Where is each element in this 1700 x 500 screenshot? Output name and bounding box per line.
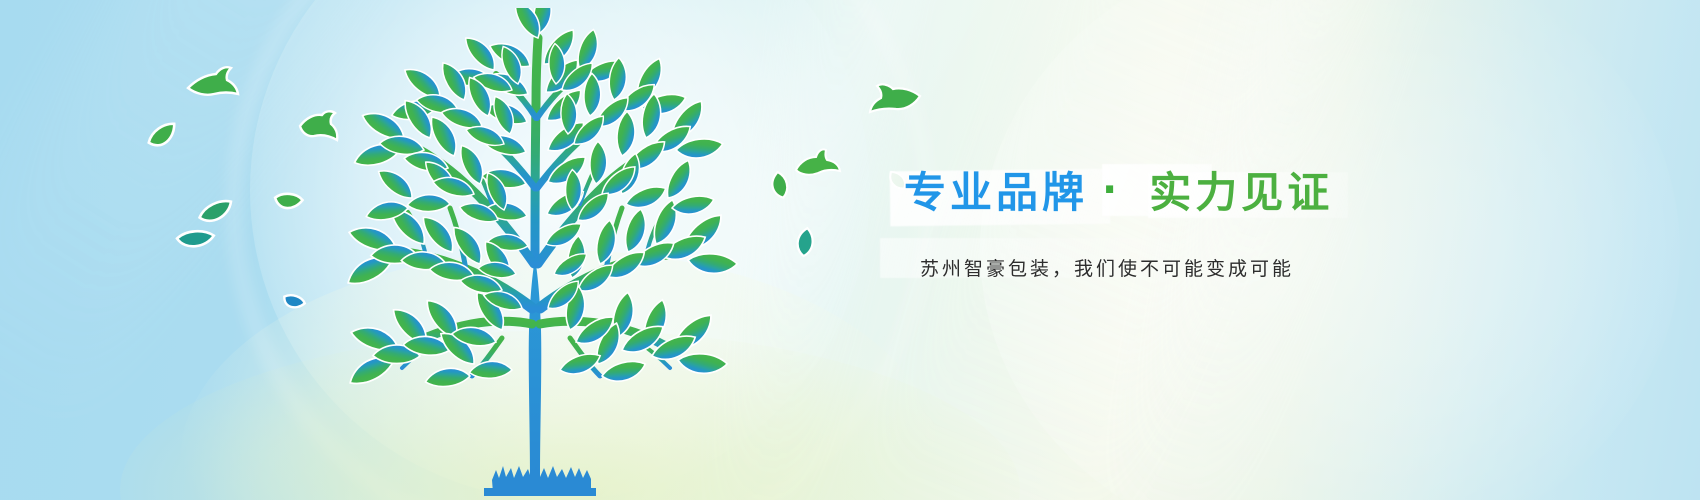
leaf-4-icon bbox=[173, 225, 218, 255]
leaf-2-icon bbox=[268, 185, 306, 221]
headline-green-text: 实力见证 bbox=[1135, 168, 1333, 217]
headline-separator-dot: · bbox=[1088, 167, 1135, 213]
banner-headline: 专业品牌·实力见证 bbox=[904, 162, 1333, 225]
leaf-1-icon bbox=[143, 119, 184, 156]
bird-left-upper-icon bbox=[186, 66, 240, 104]
tree-illustration bbox=[316, 8, 776, 496]
leaf-3-icon bbox=[194, 196, 239, 230]
hero-banner: 专业品牌·实力见证 苏州智豪包装，我们使不可能变成可能 bbox=[0, 0, 1700, 500]
bird-right-mid-icon bbox=[792, 148, 842, 182]
headline-blue-text: 专业品牌 bbox=[904, 168, 1088, 217]
banner-subtitle: 苏州智豪包装，我们使不可能变成可能 bbox=[920, 254, 1294, 281]
bird-left-mid-icon bbox=[296, 110, 340, 150]
leaf-5-icon bbox=[276, 287, 309, 319]
bird-right-upper-icon bbox=[868, 82, 922, 118]
leaf-7-icon bbox=[789, 223, 822, 260]
leaf-6-icon bbox=[765, 169, 794, 202]
banner-text-block: 专业品牌·实力见证 苏州智豪包装，我们使不可能变成可能 bbox=[880, 150, 1400, 310]
